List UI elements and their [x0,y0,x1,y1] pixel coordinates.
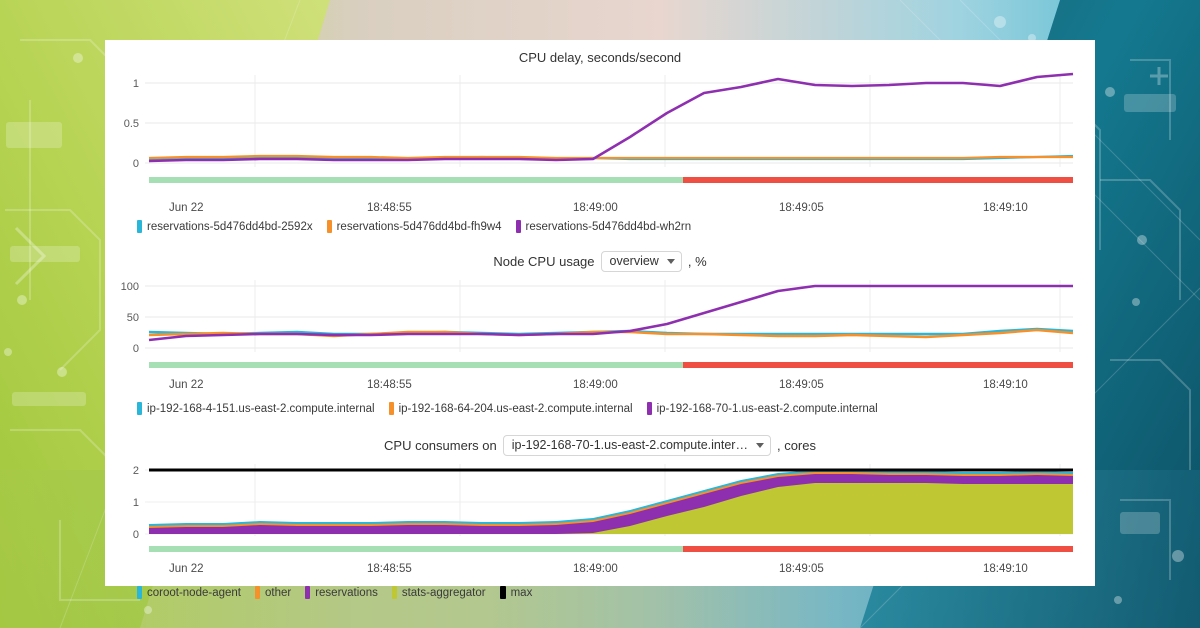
xtick-label: 18:49:05 [779,379,824,391]
xtick-label: 18:48:55 [367,202,412,214]
xtick-label: 18:49:05 [779,563,824,575]
chevron-down-icon [756,443,764,448]
legend-label: max [511,587,533,599]
xtick-label: 18:49:10 [983,563,1028,575]
legend-label: coroot-node-agent [147,587,241,599]
chart-title-cpu-delay: CPU delay, seconds/second [105,40,1095,67]
status-bar-ok [149,177,683,183]
ytick-label: 1 [133,78,139,90]
xtick-label: Jun 22 [169,563,204,575]
legend-swatch-icon [327,220,332,233]
ytick-label: 0 [133,343,139,355]
status-bar-error [683,362,1073,368]
legend-item[interactable]: ip-192-168-4-151.us-east-2.compute.inter… [137,402,375,415]
chart-title-suffix: , cores [777,438,816,453]
legend-swatch-icon [392,586,397,599]
legend-item[interactable]: reservations-5d476dd4bd-wh2rn [516,220,692,233]
legend-swatch-icon [647,402,652,415]
chart-title-text: Node CPU usage [493,254,594,269]
ytick-label: 1 [133,497,139,509]
ytick-label: 0 [133,158,139,170]
plot-svg-node-cpu-usage[interactable]: 100 50 0 [105,274,1095,374]
xtick-label: Jun 22 [169,379,204,391]
chart-cpu-consumers: CPU consumers on ip-192-168-70-1.us-east… [105,425,1095,599]
consumers-node-select[interactable]: ip-192-168-70-1.us-east-2.compute.inter… [503,435,771,456]
xtick-label: 18:49:10 [983,379,1028,391]
xtick-label: 18:49:10 [983,202,1028,214]
dashboard-panel: CPU delay, seconds/second 1 0.5 0 [105,40,1095,586]
legend-item[interactable]: stats-aggregator [392,586,486,599]
chart-node-cpu-usage: Node CPU usage overview , % 100 [105,241,1095,415]
ytick-label: 0.5 [124,118,139,130]
ytick-label: 100 [121,281,139,293]
legend-swatch-icon [137,586,142,599]
status-bar-error [683,177,1073,183]
legend-label: reservations [315,587,378,599]
ytick-label: 50 [127,312,139,324]
status-bar-error [683,546,1073,552]
legend-swatch-icon [137,220,142,233]
legend-swatch-icon [389,402,394,415]
chart-title-text: CPU delay, seconds/second [519,50,681,65]
legend-swatch-icon [305,586,310,599]
chart-title-text: CPU consumers on [384,438,497,453]
legend-cpu-consumers: coroot-node-agent other reservations sta… [105,578,1095,599]
xaxis-cpu-consumers: Jun 22 18:48:55 18:49:00 18:49:05 18:49:… [105,558,1095,578]
xtick-label: 18:49:00 [573,379,618,391]
xtick-label: 18:48:55 [367,563,412,575]
legend-swatch-icon [255,586,260,599]
node-select-value: overview [610,253,659,270]
plot-cpu-delay[interactable]: 1 0.5 0 Jun 22 18:48:55 18:49:00 18:49:0… [105,67,1095,217]
legend-label: other [265,587,291,599]
legend-item[interactable]: coroot-node-agent [137,586,241,599]
legend-label: reservations-5d476dd4bd-2592x [147,221,313,233]
consumers-node-select-value: ip-192-168-70-1.us-east-2.compute.inter… [512,437,748,454]
xtick-label: Jun 22 [169,202,204,214]
legend-label: ip-192-168-4-151.us-east-2.compute.inter… [147,403,375,415]
gridlines [145,75,1073,167]
legend-swatch-icon [137,402,142,415]
status-bar-ok [149,546,683,552]
legend-swatch-icon [500,586,506,599]
legend-label: stats-aggregator [402,587,486,599]
series-line-purple [149,74,1073,161]
xtick-label: 18:49:05 [779,202,824,214]
plot-svg-cpu-delay[interactable]: 1 0.5 0 [105,67,1095,197]
legend-item[interactable]: reservations-5d476dd4bd-2592x [137,220,313,233]
node-select[interactable]: overview [601,251,682,272]
legend-item[interactable]: max [500,586,533,599]
legend-item[interactable]: other [255,586,291,599]
legend-item[interactable]: ip-192-168-64-204.us-east-2.compute.inte… [389,402,633,415]
xaxis-cpu-delay: Jun 22 18:48:55 18:49:00 18:49:05 18:49:… [105,197,1095,217]
gridlines [145,280,1073,352]
chart-cpu-delay: CPU delay, seconds/second 1 0.5 0 [105,40,1095,233]
legend-item[interactable]: ip-192-168-70-1.us-east-2.compute.intern… [647,402,878,415]
xtick-label: 18:49:00 [573,563,618,575]
legend-label: reservations-5d476dd4bd-wh2rn [526,221,692,233]
chart-title-suffix: , % [688,254,707,269]
legend-swatch-icon [516,220,521,233]
plot-cpu-consumers[interactable]: 2 1 0 Jun 22 18:48:55 18:49:00 [105,458,1095,578]
legend-label: ip-192-168-70-1.us-east-2.compute.intern… [657,403,878,415]
ytick-label: 2 [133,465,139,477]
status-bar-ok [149,362,683,368]
legend-item[interactable]: reservations [305,586,378,599]
xtick-label: 18:49:00 [573,202,618,214]
chevron-down-icon [667,259,675,264]
legend-label: reservations-5d476dd4bd-fh9w4 [337,221,502,233]
legend-label: ip-192-168-64-204.us-east-2.compute.inte… [399,403,633,415]
legend-cpu-delay: reservations-5d476dd4bd-2592x reservatio… [105,217,1095,233]
plot-svg-cpu-consumers[interactable]: 2 1 0 [105,458,1095,558]
legend-node-cpu-usage: ip-192-168-4-151.us-east-2.compute.inter… [105,394,1095,415]
xaxis-node-cpu-usage: Jun 22 18:48:55 18:49:00 18:49:05 18:49:… [105,374,1095,394]
legend-item[interactable]: reservations-5d476dd4bd-fh9w4 [327,220,502,233]
chart-title-cpu-consumers: CPU consumers on ip-192-168-70-1.us-east… [105,425,1095,458]
ytick-label: 0 [133,529,139,541]
chart-title-node-cpu-usage: Node CPU usage overview , % [105,241,1095,274]
xtick-label: 18:48:55 [367,379,412,391]
plot-node-cpu-usage[interactable]: 100 50 0 Jun 22 18:48:55 18:49:00 18:49:… [105,274,1095,394]
